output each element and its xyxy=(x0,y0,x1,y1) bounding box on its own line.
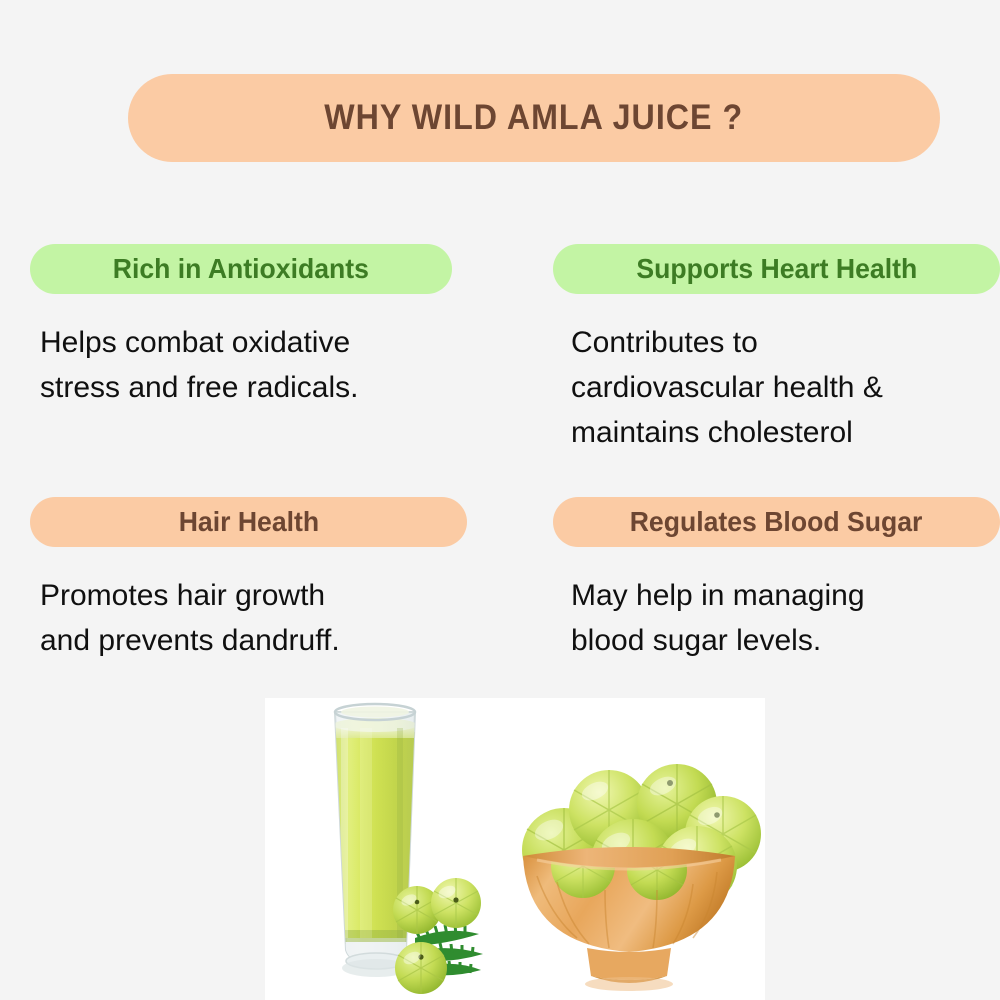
benefit-card-blood-sugar: Regulates Blood Sugar May help in managi… xyxy=(553,497,1000,663)
benefit-body-line: Helps combat oxidative xyxy=(40,320,500,365)
benefit-pill-label: Hair Health xyxy=(178,506,318,538)
benefit-pill-label: Rich in Antioxidants xyxy=(113,253,369,285)
benefit-pill-antioxidants[interactable]: Rich in Antioxidants xyxy=(30,244,452,294)
benefit-card-heart: Supports Heart Health Contributes to car… xyxy=(553,244,1000,455)
benefit-pill-label: Supports Heart Health xyxy=(636,253,917,285)
amla-juice-photo-illustration xyxy=(265,698,765,1000)
benefit-body-line: Contributes to xyxy=(571,320,1000,365)
benefit-body-line: and prevents dandruff. xyxy=(40,618,500,663)
header-banner: WHY WILD AMLA JUICE ? xyxy=(128,74,940,162)
benefit-body-line: Promotes hair growth xyxy=(40,573,500,618)
product-photo xyxy=(265,698,765,1000)
page-title: WHY WILD AMLA JUICE ? xyxy=(325,98,744,138)
benefit-pill-blood-sugar[interactable]: Regulates Blood Sugar xyxy=(553,497,1000,547)
benefit-body-line: blood sugar levels. xyxy=(571,618,1000,663)
benefit-card-antioxidants: Rich in Antioxidants Helps combat oxidat… xyxy=(30,244,500,410)
benefit-body-heart: Contributes to cardiovascular health & m… xyxy=(553,320,1000,455)
amla-juice-infographic: WHY WILD AMLA JUICE ? Rich in Antioxidan… xyxy=(0,0,1000,1000)
benefit-body-line: maintains cholesterol xyxy=(571,410,1000,455)
benefit-pill-label: Regulates Blood Sugar xyxy=(630,506,923,538)
benefit-body-line: stress and free radicals. xyxy=(40,365,500,410)
amla-fruit xyxy=(431,878,481,928)
benefit-body-antioxidants: Helps combat oxidative stress and free r… xyxy=(30,320,500,410)
benefit-pill-hair[interactable]: Hair Health xyxy=(30,497,467,547)
benefit-card-hair: Hair Health Promotes hair growth and pre… xyxy=(30,497,500,663)
benefit-body-hair: Promotes hair growth and prevents dandru… xyxy=(30,573,500,663)
benefit-pill-heart[interactable]: Supports Heart Health xyxy=(553,244,1000,294)
benefit-body-blood-sugar: May help in managing blood sugar levels. xyxy=(553,573,1000,663)
benefit-body-line: cardiovascular health & xyxy=(571,365,1000,410)
benefit-body-line: May help in managing xyxy=(571,573,1000,618)
amla-fruit xyxy=(395,942,447,994)
